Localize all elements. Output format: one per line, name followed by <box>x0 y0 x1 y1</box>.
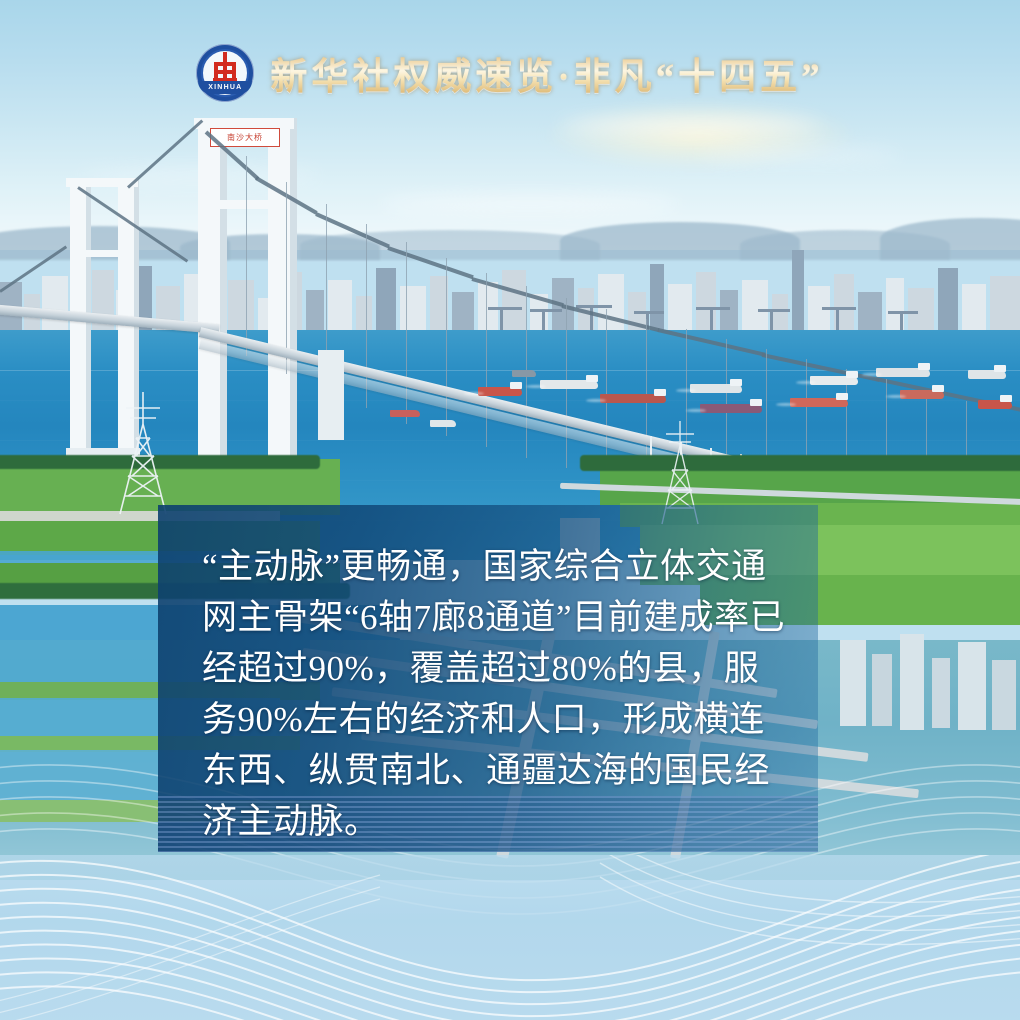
page-title: 新华社权威速览·非凡“十四五” <box>270 46 823 100</box>
poster-card: 南沙大桥 <box>0 0 1020 1020</box>
header-bar: XINHUA 新华社权威速览·非凡“十四五” <box>0 42 1020 104</box>
caption-paragraph: “主动脉”更畅通，国家综合立体交通网主骨架“6轴7廊8通道”目前建成率已经超过9… <box>158 505 818 847</box>
caption-panel: “主动脉”更畅通，国家综合立体交通网主骨架“6轴7廊8通道”目前建成率已经超过9… <box>158 505 818 852</box>
transmission-tower <box>108 388 178 518</box>
flowing-wave-overlay <box>0 855 1020 1020</box>
xinhua-logo[interactable]: XINHUA <box>196 44 254 102</box>
footer-decor <box>0 855 1020 1020</box>
logo-wordmark: XINHUA <box>198 81 252 94</box>
